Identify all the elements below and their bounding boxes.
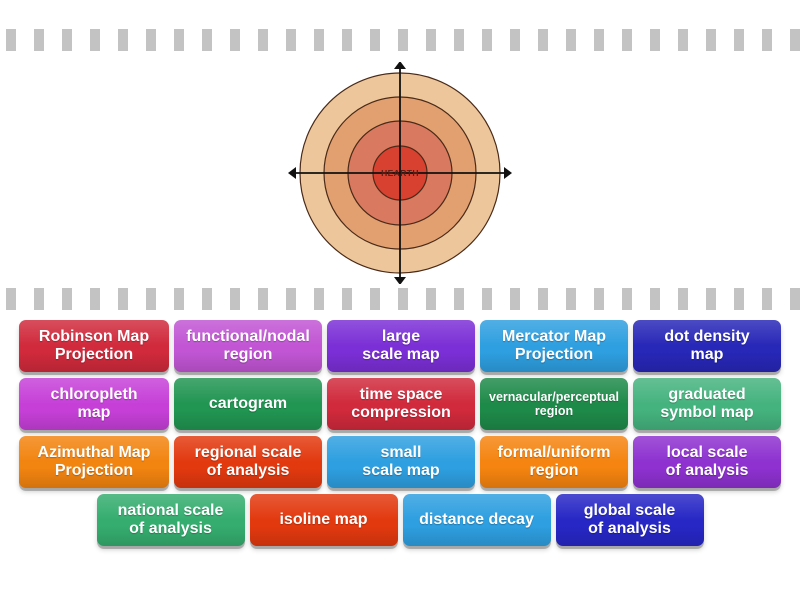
separator-dash [202, 29, 212, 51]
tile-label: global scaleof analysis [584, 502, 676, 538]
tile-formal-uniform-region[interactable]: formal/uniformregion [480, 436, 628, 488]
separator-dash [426, 29, 436, 51]
separator-dash [314, 29, 324, 51]
separator-dash [90, 29, 100, 51]
tile-label: functional/nodalregion [186, 328, 310, 364]
tile-time-space-compression[interactable]: time spacecompression [327, 378, 475, 430]
separator-dash [146, 288, 156, 310]
separator-dash [538, 29, 548, 51]
separator-dash [174, 29, 184, 51]
tile-dot-density-map[interactable]: dot densitymap [633, 320, 781, 372]
tile-row-3: Azimuthal MapProjectionregional scaleof … [0, 436, 800, 488]
separator-dash [510, 288, 520, 310]
tile-global-scale-of-analysis[interactable]: global scaleof analysis [556, 494, 704, 546]
separator-dash [342, 288, 352, 310]
separator-dash [734, 288, 744, 310]
tile-distance-decay[interactable]: distance decay [403, 494, 551, 546]
tile-mercator-map-projection[interactable]: Mercator MapProjection [480, 320, 628, 372]
separator-dash [454, 29, 464, 51]
separator-dash [230, 288, 240, 310]
tile-small-scale-map[interactable]: smallscale map [327, 436, 475, 488]
separator-dash [34, 288, 44, 310]
tile-row-4: national scaleof analysisisoline mapdist… [0, 494, 800, 546]
separator-dash [482, 29, 492, 51]
answer-tile-board: Robinson MapProjectionfunctional/nodalre… [0, 320, 800, 565]
tile-label: formal/uniformregion [498, 444, 611, 480]
separator-dash [538, 288, 548, 310]
separator-dash [286, 288, 296, 310]
separator-dash [622, 29, 632, 51]
hearth-center-label: HEARTH [381, 168, 419, 178]
separator-dash [34, 29, 44, 51]
arrow-head-up [394, 62, 406, 69]
separator-top [0, 29, 800, 51]
separator-dash [622, 288, 632, 310]
separator-dash [370, 29, 380, 51]
tile-label: chloroplethmap [50, 386, 137, 422]
tile-national-scale-of-analysis[interactable]: national scaleof analysis [97, 494, 245, 546]
tile-robinson-map-projection[interactable]: Robinson MapProjection [19, 320, 169, 372]
separator-dash [286, 29, 296, 51]
separator-dash [706, 288, 716, 310]
separator-dash [118, 288, 128, 310]
tile-label: local scaleof analysis [666, 444, 749, 480]
tile-label: time spacecompression [351, 386, 451, 422]
separator-dash [790, 29, 800, 51]
separator-dash [6, 29, 16, 51]
separator-dash [62, 288, 72, 310]
tile-row-2: chloroplethmapcartogramtime spacecompres… [0, 378, 800, 430]
hearth-diagram-container: HEARTH [0, 62, 800, 284]
tile-large-scale-map[interactable]: largescale map [327, 320, 475, 372]
separator-dash [706, 29, 716, 51]
separator-dash [482, 288, 492, 310]
separator-dash [650, 288, 660, 310]
tile-label: national scaleof analysis [118, 502, 224, 538]
separator-dash [258, 288, 268, 310]
tile-label: largescale map [362, 328, 439, 364]
tile-isoline-map[interactable]: isoline map [250, 494, 398, 546]
tile-label: isoline map [279, 511, 367, 529]
hearth-diffusion-diagram: HEARTH [284, 62, 516, 284]
separator-dash [594, 288, 604, 310]
arrow-head-right [504, 167, 512, 179]
separator-dash [426, 288, 436, 310]
separator-dash [258, 29, 268, 51]
separator-dash [510, 29, 520, 51]
tile-label: smallscale map [362, 444, 439, 480]
tile-row-1: Robinson MapProjectionfunctional/nodalre… [0, 320, 800, 372]
separator-dash [790, 288, 800, 310]
tile-graduated-symbol-map[interactable]: graduatedsymbol map [633, 378, 781, 430]
tile-local-scale-of-analysis[interactable]: local scaleof analysis [633, 436, 781, 488]
separator-dash [6, 288, 16, 310]
tile-azimuthal-map-projection[interactable]: Azimuthal MapProjection [19, 436, 169, 488]
separator-dash [678, 29, 688, 51]
separator-dash [62, 29, 72, 51]
tile-label: dot densitymap [664, 328, 749, 364]
separator-dash [678, 288, 688, 310]
tile-functional-nodal-region[interactable]: functional/nodalregion [174, 320, 322, 372]
arrow-head-left [288, 167, 296, 179]
separator-dash [398, 29, 408, 51]
tile-label: regional scaleof analysis [195, 444, 302, 480]
separator-dash [566, 288, 576, 310]
tile-label: distance decay [419, 511, 534, 529]
tile-label: cartogram [209, 395, 287, 413]
separator-dash [594, 29, 604, 51]
separator-dash [146, 29, 156, 51]
tile-label: vernacular/perceptualregion [489, 390, 619, 418]
tile-cartogram[interactable]: cartogram [174, 378, 322, 430]
separator-middle [0, 288, 800, 310]
separator-dash [650, 29, 660, 51]
tile-label: graduatedsymbol map [660, 386, 753, 422]
tile-label: Robinson MapProjection [39, 328, 149, 364]
separator-dash [734, 29, 744, 51]
tile-label: Azimuthal MapProjection [38, 444, 151, 480]
separator-dash [762, 288, 772, 310]
separator-dash [762, 29, 772, 51]
tile-vernacular-perceptual-region[interactable]: vernacular/perceptualregion [480, 378, 628, 430]
separator-dash [118, 29, 128, 51]
separator-dash [90, 288, 100, 310]
tile-label: Mercator MapProjection [502, 328, 606, 364]
tile-regional-scale-of-analysis[interactable]: regional scaleof analysis [174, 436, 322, 488]
separator-dash [370, 288, 380, 310]
separator-dash [398, 288, 408, 310]
separator-dash [174, 288, 184, 310]
separator-dash [314, 288, 324, 310]
separator-dash [230, 29, 240, 51]
separator-dash [566, 29, 576, 51]
separator-dash [342, 29, 352, 51]
arrow-head-down [394, 277, 406, 284]
separator-dash [202, 288, 212, 310]
separator-dash [454, 288, 464, 310]
tile-chloropleth-map[interactable]: chloroplethmap [19, 378, 169, 430]
